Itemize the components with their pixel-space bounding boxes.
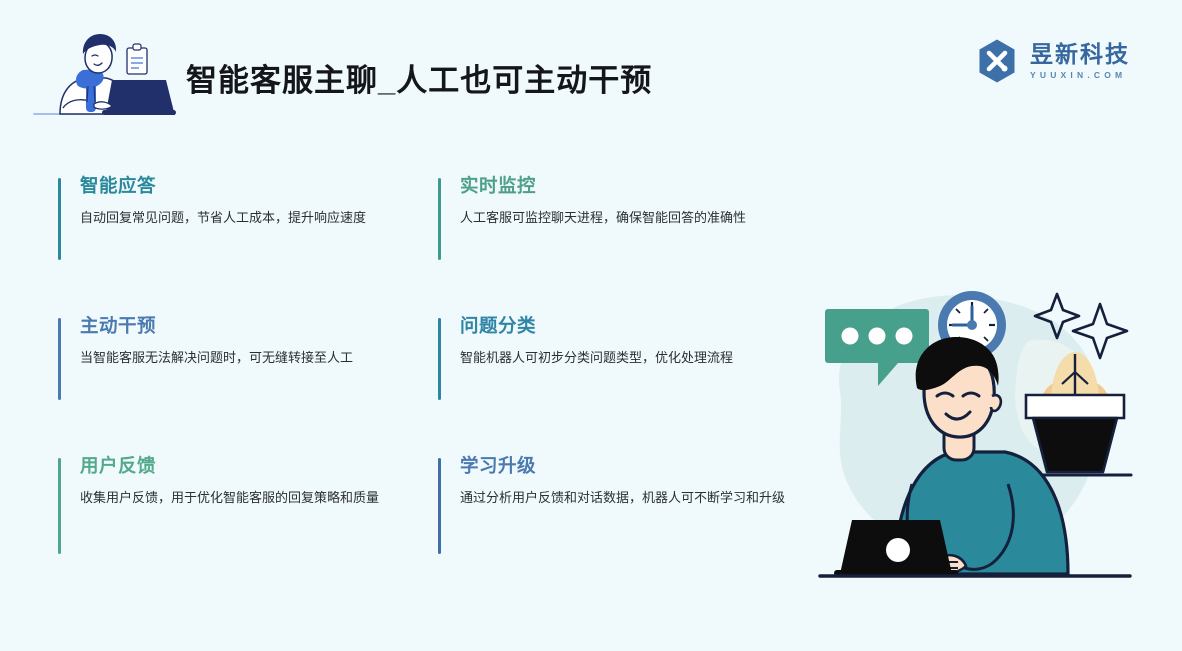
card-title: 用户反馈 bbox=[80, 456, 438, 476]
person-at-laptop-illustration bbox=[28, 18, 176, 128]
brand-name: 昱新科技 bbox=[1030, 42, 1130, 66]
card-title: 实时监控 bbox=[460, 176, 818, 196]
card-title: 问题分类 bbox=[460, 316, 818, 336]
card-description: 当智能客服无法解决问题时，可无缝转接至人工 bbox=[80, 347, 410, 368]
page-title: 智能客服主聊_人工也可主动干预 bbox=[186, 55, 652, 100]
slide-root: 智能客服主聊_人工也可主动干预 昱新科技 YUUXIN.COM 智能应答 自动回… bbox=[0, 0, 1182, 651]
card-accent-bar bbox=[438, 458, 441, 554]
brand-domain: YUUXIN.COM bbox=[1030, 70, 1130, 80]
feature-card: 用户反馈 收集用户反馈，用于优化智能客服的回复策略和质量 bbox=[58, 456, 438, 576]
card-accent-bar bbox=[58, 318, 61, 400]
feature-card: 学习升级 通过分析用户反馈和对话数据，机器人可不断学习和升级 bbox=[438, 456, 818, 576]
brand-text: 昱新科技 YUUXIN.COM bbox=[1030, 42, 1130, 79]
card-description: 自动回复常见问题，节省人工成本，提升响应速度 bbox=[80, 207, 410, 228]
brand-logo: 昱新科技 YUUXIN.COM bbox=[974, 38, 1130, 84]
card-description: 人工客服可监控聊天进程，确保智能回答的准确性 bbox=[460, 207, 790, 228]
card-description: 收集用户反馈，用于优化智能客服的回复策略和质量 bbox=[80, 487, 410, 508]
card-accent-bar bbox=[58, 458, 61, 554]
card-description: 通过分析用户反馈和对话数据，机器人可不断学习和升级 bbox=[460, 487, 790, 508]
brand-mark-icon bbox=[974, 38, 1020, 84]
card-title: 智能应答 bbox=[80, 176, 438, 196]
card-accent-bar bbox=[58, 178, 61, 260]
feature-card: 智能应答 自动回复常见问题，节省人工成本，提升响应速度 bbox=[58, 176, 438, 316]
feature-card: 主动干预 当智能客服无法解决问题时，可无缝转接至人工 bbox=[58, 316, 438, 456]
card-title: 主动干预 bbox=[80, 316, 438, 336]
card-title: 学习升级 bbox=[460, 456, 818, 476]
card-accent-bar bbox=[438, 178, 441, 260]
feature-card: 问题分类 智能机器人可初步分类问题类型，优化处理流程 bbox=[438, 316, 818, 456]
feature-card: 实时监控 人工客服可监控聊天进程，确保智能回答的准确性 bbox=[438, 176, 818, 316]
card-description: 智能机器人可初步分类问题类型，优化处理流程 bbox=[460, 347, 790, 368]
card-accent-bar bbox=[438, 318, 441, 400]
customer-service-agent-illustration bbox=[800, 262, 1150, 602]
feature-card-grid: 智能应答 自动回复常见问题，节省人工成本，提升响应速度 实时监控 人工客服可监控… bbox=[58, 176, 818, 576]
slide-header: 智能客服主聊_人工也可主动干预 昱新科技 YUUXIN.COM bbox=[0, 0, 1182, 140]
document-icon bbox=[127, 44, 147, 74]
